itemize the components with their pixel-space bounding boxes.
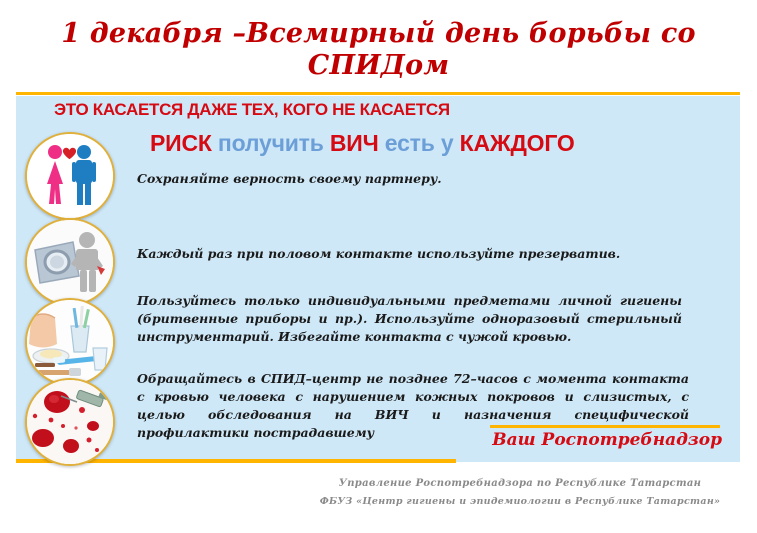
title-divider-rule: [16, 92, 740, 95]
footer-line-2: ФБУЗ «Центр гигиены и эпидемиологии в Ре…: [300, 493, 740, 511]
page-title: 1 декабря –Всемирный день борьбы со СПИД…: [0, 18, 757, 82]
advice-paragraph-1: Сохраняйте верность своему партнеру.: [137, 170, 677, 188]
headline-poluchit: получить: [218, 130, 330, 156]
aids-awareness-poster: 1 декабря –Всемирный день борьбы со СПИД…: [0, 0, 757, 533]
condom-protection-icon: [25, 218, 115, 306]
headline-kazhdogo: КАЖДОГО: [460, 130, 575, 156]
personal-hygiene-items-icon: [25, 298, 115, 386]
headline-text: РИСК получить ВИЧ есть у КАЖДОГО: [150, 130, 750, 157]
footer-line-1: Управление Роспотребнадзора по Республик…: [300, 474, 740, 493]
headline-est-u: есть у: [385, 130, 460, 156]
advice-paragraph-3: Пользуйтесь только индивидуальными предм…: [137, 292, 682, 346]
footer-block: Управление Роспотребнадзора по Республик…: [300, 474, 740, 511]
headline-risk: РИСК: [150, 130, 218, 156]
signature-text: Ваш Роспотребнадзор: [490, 430, 722, 450]
advice-paragraph-2: Каждый раз при половом контакте использу…: [137, 245, 677, 263]
headline-vich: ВИЧ: [330, 130, 385, 156]
signature-divider-rule: [490, 425, 720, 428]
couple-with-heart-icon: [25, 132, 115, 220]
kicker-text: ЭТО КАСАЕТСЯ ДАЖЕ ТЕХ, КОГО НЕ КАСАЕТСЯ: [54, 100, 754, 120]
blood-drops-syringe-icon: [25, 378, 115, 466]
poster-title-container: 1 декабря –Всемирный день борьбы со СПИД…: [0, 18, 757, 82]
